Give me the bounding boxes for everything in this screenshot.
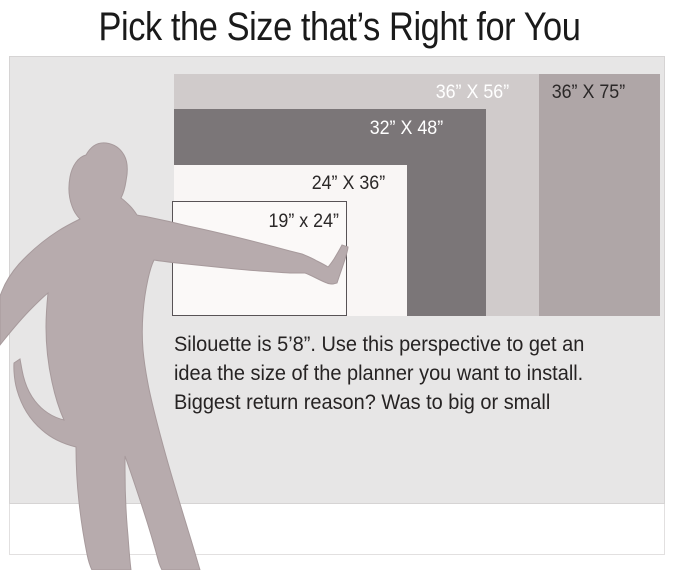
size-label-36x56: 36” X 56” (436, 83, 509, 102)
size-label-24x36: 24” X 36” (312, 174, 385, 193)
size-comparison-stage: 36” X 75” 36” X 56” 32” X 48” 24” X 36” … (9, 56, 665, 504)
caption-line-2: idea the size of the planner you want to… (174, 359, 649, 388)
stage-lower-margin (9, 504, 665, 555)
size-label-19x24: 19” x 24” (268, 212, 338, 231)
caption-text: Silouette is 5’8”. Use this perspective … (174, 330, 649, 417)
caption-line-1: Silouette is 5’8”. Use this perspective … (174, 330, 649, 359)
size-rect-36x75[interactable] (539, 74, 660, 316)
title-bar: Pick the Size that’s Right for You (0, 0, 679, 54)
size-label-36x75: 36” X 75” (552, 83, 625, 102)
caption-line-3: Biggest return reason? Was to big or sma… (174, 388, 649, 417)
size-label-32x48: 32” X 48” (370, 119, 443, 138)
page-title: Pick the Size that’s Right for You (48, 0, 632, 54)
